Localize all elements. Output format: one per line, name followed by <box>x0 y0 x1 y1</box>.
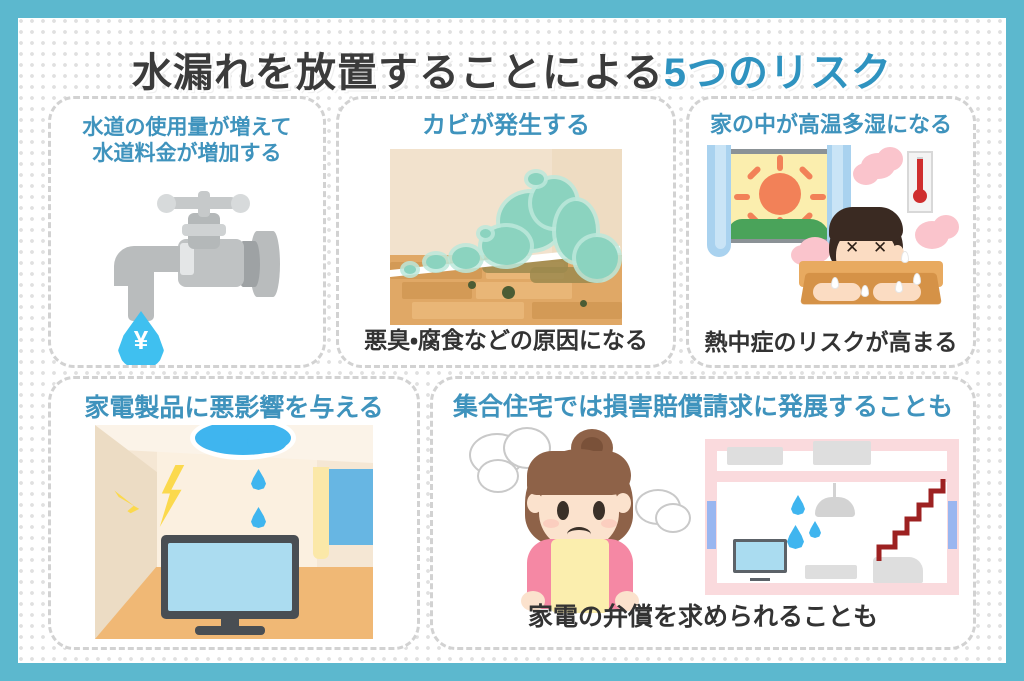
sun-ray <box>777 155 783 171</box>
thermometer-bulb <box>913 189 927 203</box>
sweat-drop <box>861 285 869 297</box>
page-title-lead: 水漏れを放置することによる <box>132 51 664 95</box>
floor-plank <box>412 302 524 319</box>
card-mold-heading: カビが発生する <box>339 111 673 140</box>
mold-illustration <box>390 149 622 325</box>
speech-bubble <box>655 503 691 533</box>
sun-ray <box>810 194 826 200</box>
faucet-collar <box>182 224 226 236</box>
woman-blush-left <box>543 519 559 528</box>
faucet-knob-right <box>231 194 250 213</box>
mold-speck <box>580 300 587 307</box>
sun-icon <box>759 173 801 215</box>
card-liability: 集合住宅では損害賠償請求に発展することも <box>430 376 976 650</box>
heat-cloud <box>933 215 959 239</box>
ceiling-water-stain-lobe <box>247 431 287 453</box>
ceiling-lamp-shade <box>815 497 855 517</box>
card-liability-heading: 集合住宅では損害賠償請求に発展することも <box>433 392 973 423</box>
card-liability-caption: 家電の弁償を求められることも <box>433 597 973 633</box>
faucet-illustration: ¥ <box>92 191 282 356</box>
sweat-drop <box>901 251 909 263</box>
worried-woman-illustration <box>469 427 689 617</box>
leaking-room-illustration <box>95 425 373 639</box>
card-heat-heading: 家の中が高温多湿になる <box>689 112 973 139</box>
boy-eye-x-left: ✕ <box>845 239 859 256</box>
speech-bubble <box>477 459 519 493</box>
dotted-panel: 水漏れを放置することによる5つのリスク 水道の使用量が増えて 水道料金が増加する <box>18 18 1006 663</box>
apartment-table <box>805 565 857 579</box>
boy-eye-x-right: ✕ <box>873 239 887 256</box>
sweat-drop <box>831 277 839 289</box>
upstairs-furniture <box>727 447 783 465</box>
mold-speck <box>468 281 476 289</box>
mold-blob <box>480 229 491 238</box>
mold-blob <box>528 173 544 185</box>
card-water-bill: 水道の使用量が増えて 水道料金が増加する ¥ <box>48 96 326 368</box>
tv-screen <box>168 543 292 611</box>
boy-hair-front <box>829 207 903 241</box>
card-heat-humidity: 家の中が高温多湿になる <box>686 96 976 368</box>
apartment-tv <box>733 539 787 573</box>
apartment-tv-stand <box>750 570 770 581</box>
faucet-handle-bar <box>169 197 237 209</box>
room-curtain <box>313 467 329 559</box>
woman-fringe <box>527 451 631 495</box>
sweat-drop <box>913 273 921 285</box>
mold-speck <box>502 286 515 299</box>
staircase-icon <box>867 475 947 567</box>
card-water-bill-heading-line2: 水道料金が増加する <box>51 141 323 167</box>
mold-blob <box>452 247 480 269</box>
upstairs-furniture <box>813 441 871 465</box>
card-appliance-heading: 家電製品に悪影響を与える <box>51 393 417 424</box>
heat-cloud <box>877 147 903 171</box>
yen-symbol: ¥ <box>118 325 164 356</box>
card-mold-caption: 悪臭・腐食などの原因になる <box>339 321 673 355</box>
card-mold: カビが発生する <box>336 96 676 368</box>
mold-blob <box>404 265 416 274</box>
mold-blob <box>426 255 446 269</box>
page-title: 水漏れを放置することによる5つのリスク <box>18 40 1006 98</box>
faucet-knob-left <box>157 194 176 213</box>
woman-eye-right <box>593 501 605 520</box>
floor-plank <box>402 282 472 299</box>
heatstroke-illustration: ✕ ✕ <box>695 145 973 327</box>
woman-blush-right <box>601 519 617 528</box>
sun-ray <box>734 194 750 200</box>
apartment-cross-section-illustration <box>705 439 959 595</box>
apartment-window-right <box>948 501 957 549</box>
card-appliance-damage: 家電製品に悪影響を与える <box>48 376 420 650</box>
thermometer-mercury <box>917 159 923 193</box>
curtain-left-highlight <box>715 145 726 249</box>
grass-outside <box>728 219 830 239</box>
woman-eye-left <box>557 501 569 520</box>
floor-plank <box>532 302 622 319</box>
card-heat-caption: 熱中症のリスクが高まる <box>689 323 973 357</box>
card-water-bill-heading-line1: 水道の使用量が増えて <box>51 115 323 141</box>
heat-cloud <box>853 163 879 185</box>
infographic-root: 水漏れを放置することによる5つのリスク 水道の使用量が増えて 水道料金が増加する <box>0 0 1024 681</box>
mold-blob <box>576 237 618 279</box>
card-water-bill-heading: 水道の使用量が増えて 水道料金が増加する <box>51 115 323 166</box>
sweat-drop <box>895 281 903 293</box>
page-title-accent: 5つのリスク <box>664 51 892 95</box>
floor-plank <box>476 282 572 299</box>
apartment-window-left <box>707 501 716 549</box>
